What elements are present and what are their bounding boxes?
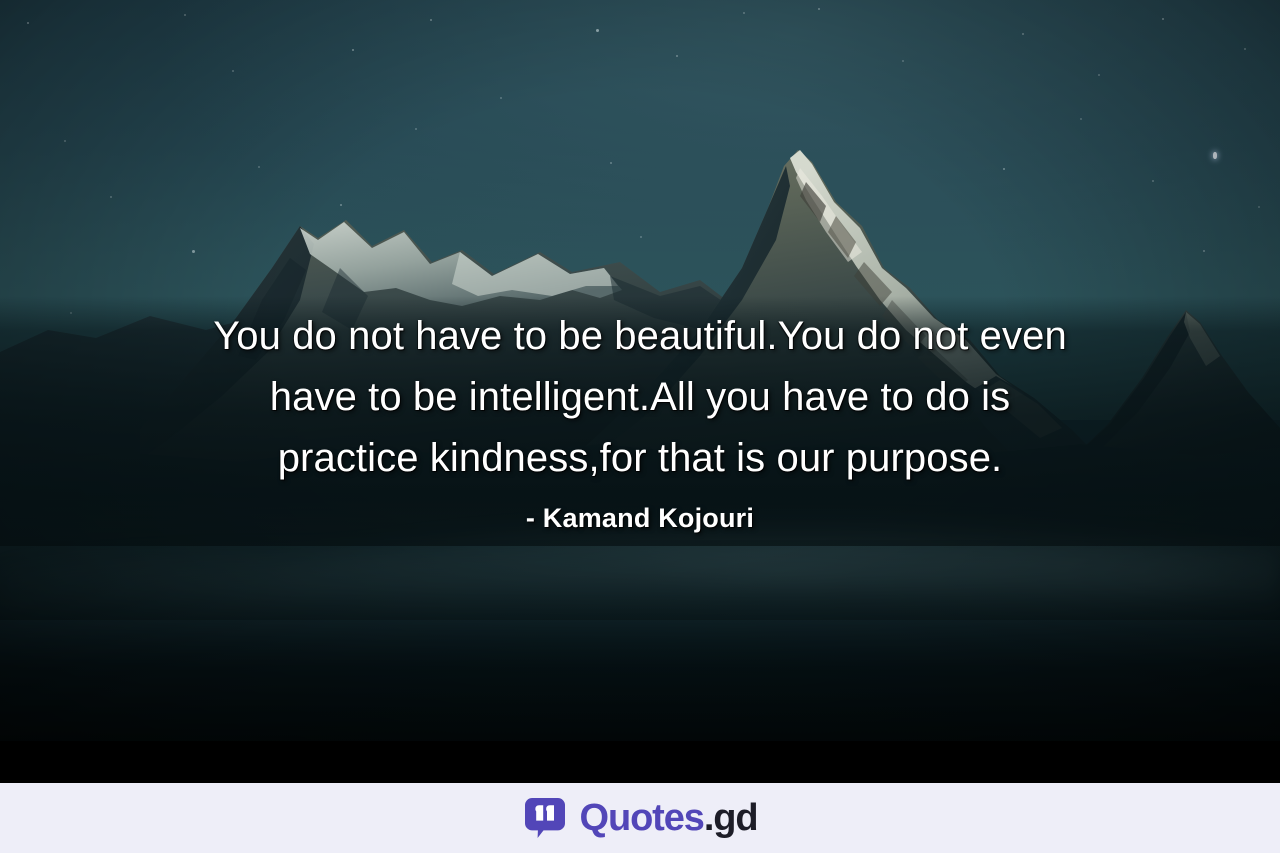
- speech-bubble-quote-icon: [523, 796, 567, 840]
- dark-foreground: [0, 540, 1280, 745]
- quote-image: You do not have to be beautiful.You do n…: [0, 0, 1280, 783]
- brand-tld: .gd: [704, 797, 758, 839]
- brand-wordmark: Quotes.gd: [580, 799, 758, 837]
- quote-author: - Kamand Kojouri: [80, 503, 1200, 534]
- black-band: [0, 741, 1280, 783]
- footer: Quotes.gd: [0, 783, 1280, 853]
- brand-name: Quotes: [580, 797, 704, 839]
- quote-page: You do not have to be beautiful.You do n…: [0, 0, 1280, 853]
- quote-text: You do not have to be beautiful.You do n…: [80, 306, 1200, 489]
- quote-block: You do not have to be beautiful.You do n…: [80, 306, 1200, 534]
- site-logo[interactable]: Quotes.gd: [523, 796, 758, 840]
